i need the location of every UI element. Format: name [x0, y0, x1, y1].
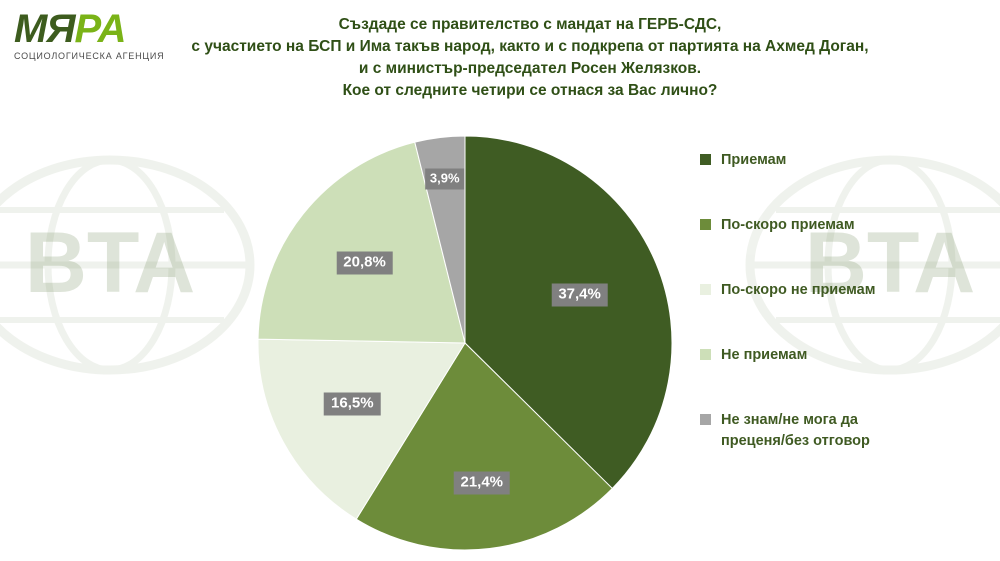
title-line-4: Кое от следните четири се отнася за Вас … [150, 80, 910, 102]
svg-text:BTA: BTA [25, 215, 195, 311]
legend-label-multiline: Не знам/не мога да преценя/без отговор [721, 410, 870, 452]
title-line-1: Създаде се правителство с мандат на ГЕРБ… [150, 14, 910, 36]
legend-item-po-skoro-priemam: По-скоро приемам [700, 215, 980, 236]
slice-label-po-skoro-priemam: 21,4% [453, 471, 510, 494]
pie-chart: 37,4% 21,4% 16,5% 20,8% 3,9% [255, 133, 675, 553]
title-line-2: с участието на БСП и Има такъв народ, ка… [150, 36, 910, 58]
chart-legend: Приемам По-скоро приемам По-скоро не при… [700, 150, 980, 496]
slice-label-ne-znam: 3,9% [425, 168, 465, 189]
legend-item-ne-znam: Не знам/не мога да преценя/без отговор [700, 410, 980, 452]
slide-root: BTA BTA BTA МЯРА [0, 0, 1000, 561]
legend-label: По-скоро не приемам [721, 280, 875, 301]
legend-swatch-icon [700, 219, 711, 230]
legend-swatch-icon [700, 284, 711, 295]
legend-item-priemam: Приемам [700, 150, 980, 171]
legend-item-ne-priemam: Не приемам [700, 345, 980, 366]
watermark-left: BTA [0, 150, 260, 380]
slice-label-po-skoro-ne-priemam: 16,5% [324, 393, 381, 416]
legend-item-po-skoro-ne-priemam: По-скоро не приемам [700, 280, 980, 301]
legend-swatch-icon [700, 414, 711, 425]
legend-label: Не приемам [721, 345, 807, 366]
legend-label-line2: преценя/без отговор [721, 433, 870, 449]
legend-swatch-icon [700, 154, 711, 165]
slice-label-priemam: 37,4% [551, 284, 608, 307]
legend-label: Приемам [721, 150, 786, 171]
page-title: Създаде се правителство с мандат на ГЕРБ… [150, 14, 910, 102]
logo-wordmark-part2: РА [74, 7, 125, 51]
title-line-3: и с министър-председател Росен Желязков. [150, 58, 910, 80]
logo-wordmark-part1: МЯ [14, 7, 74, 51]
legend-label-line1: Не знам/не мога да [721, 412, 858, 428]
legend-label: По-скоро приемам [721, 215, 855, 236]
legend-swatch-icon [700, 349, 711, 360]
slice-label-ne-priemam: 20,8% [336, 252, 393, 275]
